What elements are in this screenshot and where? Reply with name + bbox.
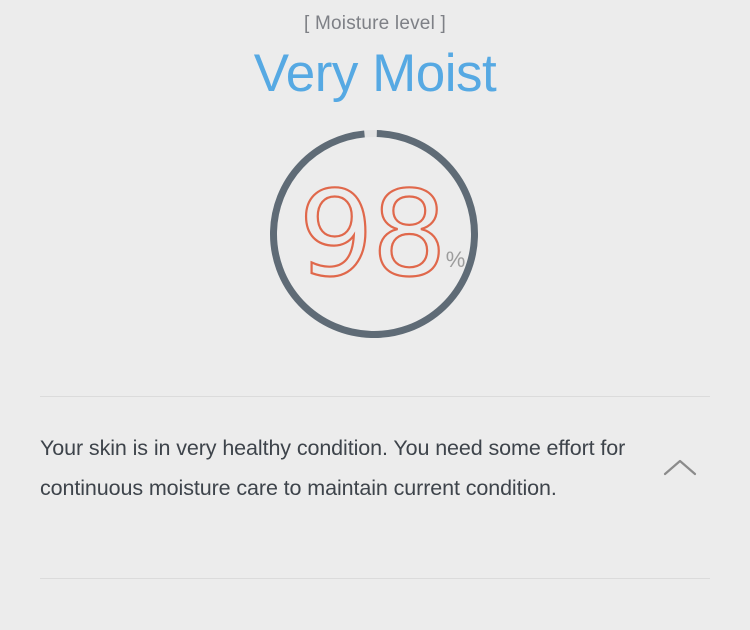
moisture-level-panel: [ Moisture level ] Very Moist 98 % Your … xyxy=(0,0,750,630)
gauge-value: 98 xyxy=(299,179,445,289)
chevron-up-icon xyxy=(663,457,697,479)
description-row: Your skin is in very healthy condition. … xyxy=(40,428,710,508)
gauge-readout: 98 % xyxy=(299,179,466,289)
gauge-center: 98 % xyxy=(270,130,478,338)
gauge-unit: % xyxy=(446,249,466,271)
header: [ Moisture level ] Very Moist xyxy=(0,0,750,105)
divider-bottom xyxy=(40,578,710,579)
metric-label: [ Moisture level ] xyxy=(0,12,750,36)
description-text: Your skin is in very healthy condition. … xyxy=(40,428,640,508)
moisture-gauge: 98 % xyxy=(270,130,478,338)
collapse-toggle-button[interactable] xyxy=(652,440,708,496)
metric-title: Very Moist xyxy=(0,43,750,105)
divider-top xyxy=(40,396,710,397)
